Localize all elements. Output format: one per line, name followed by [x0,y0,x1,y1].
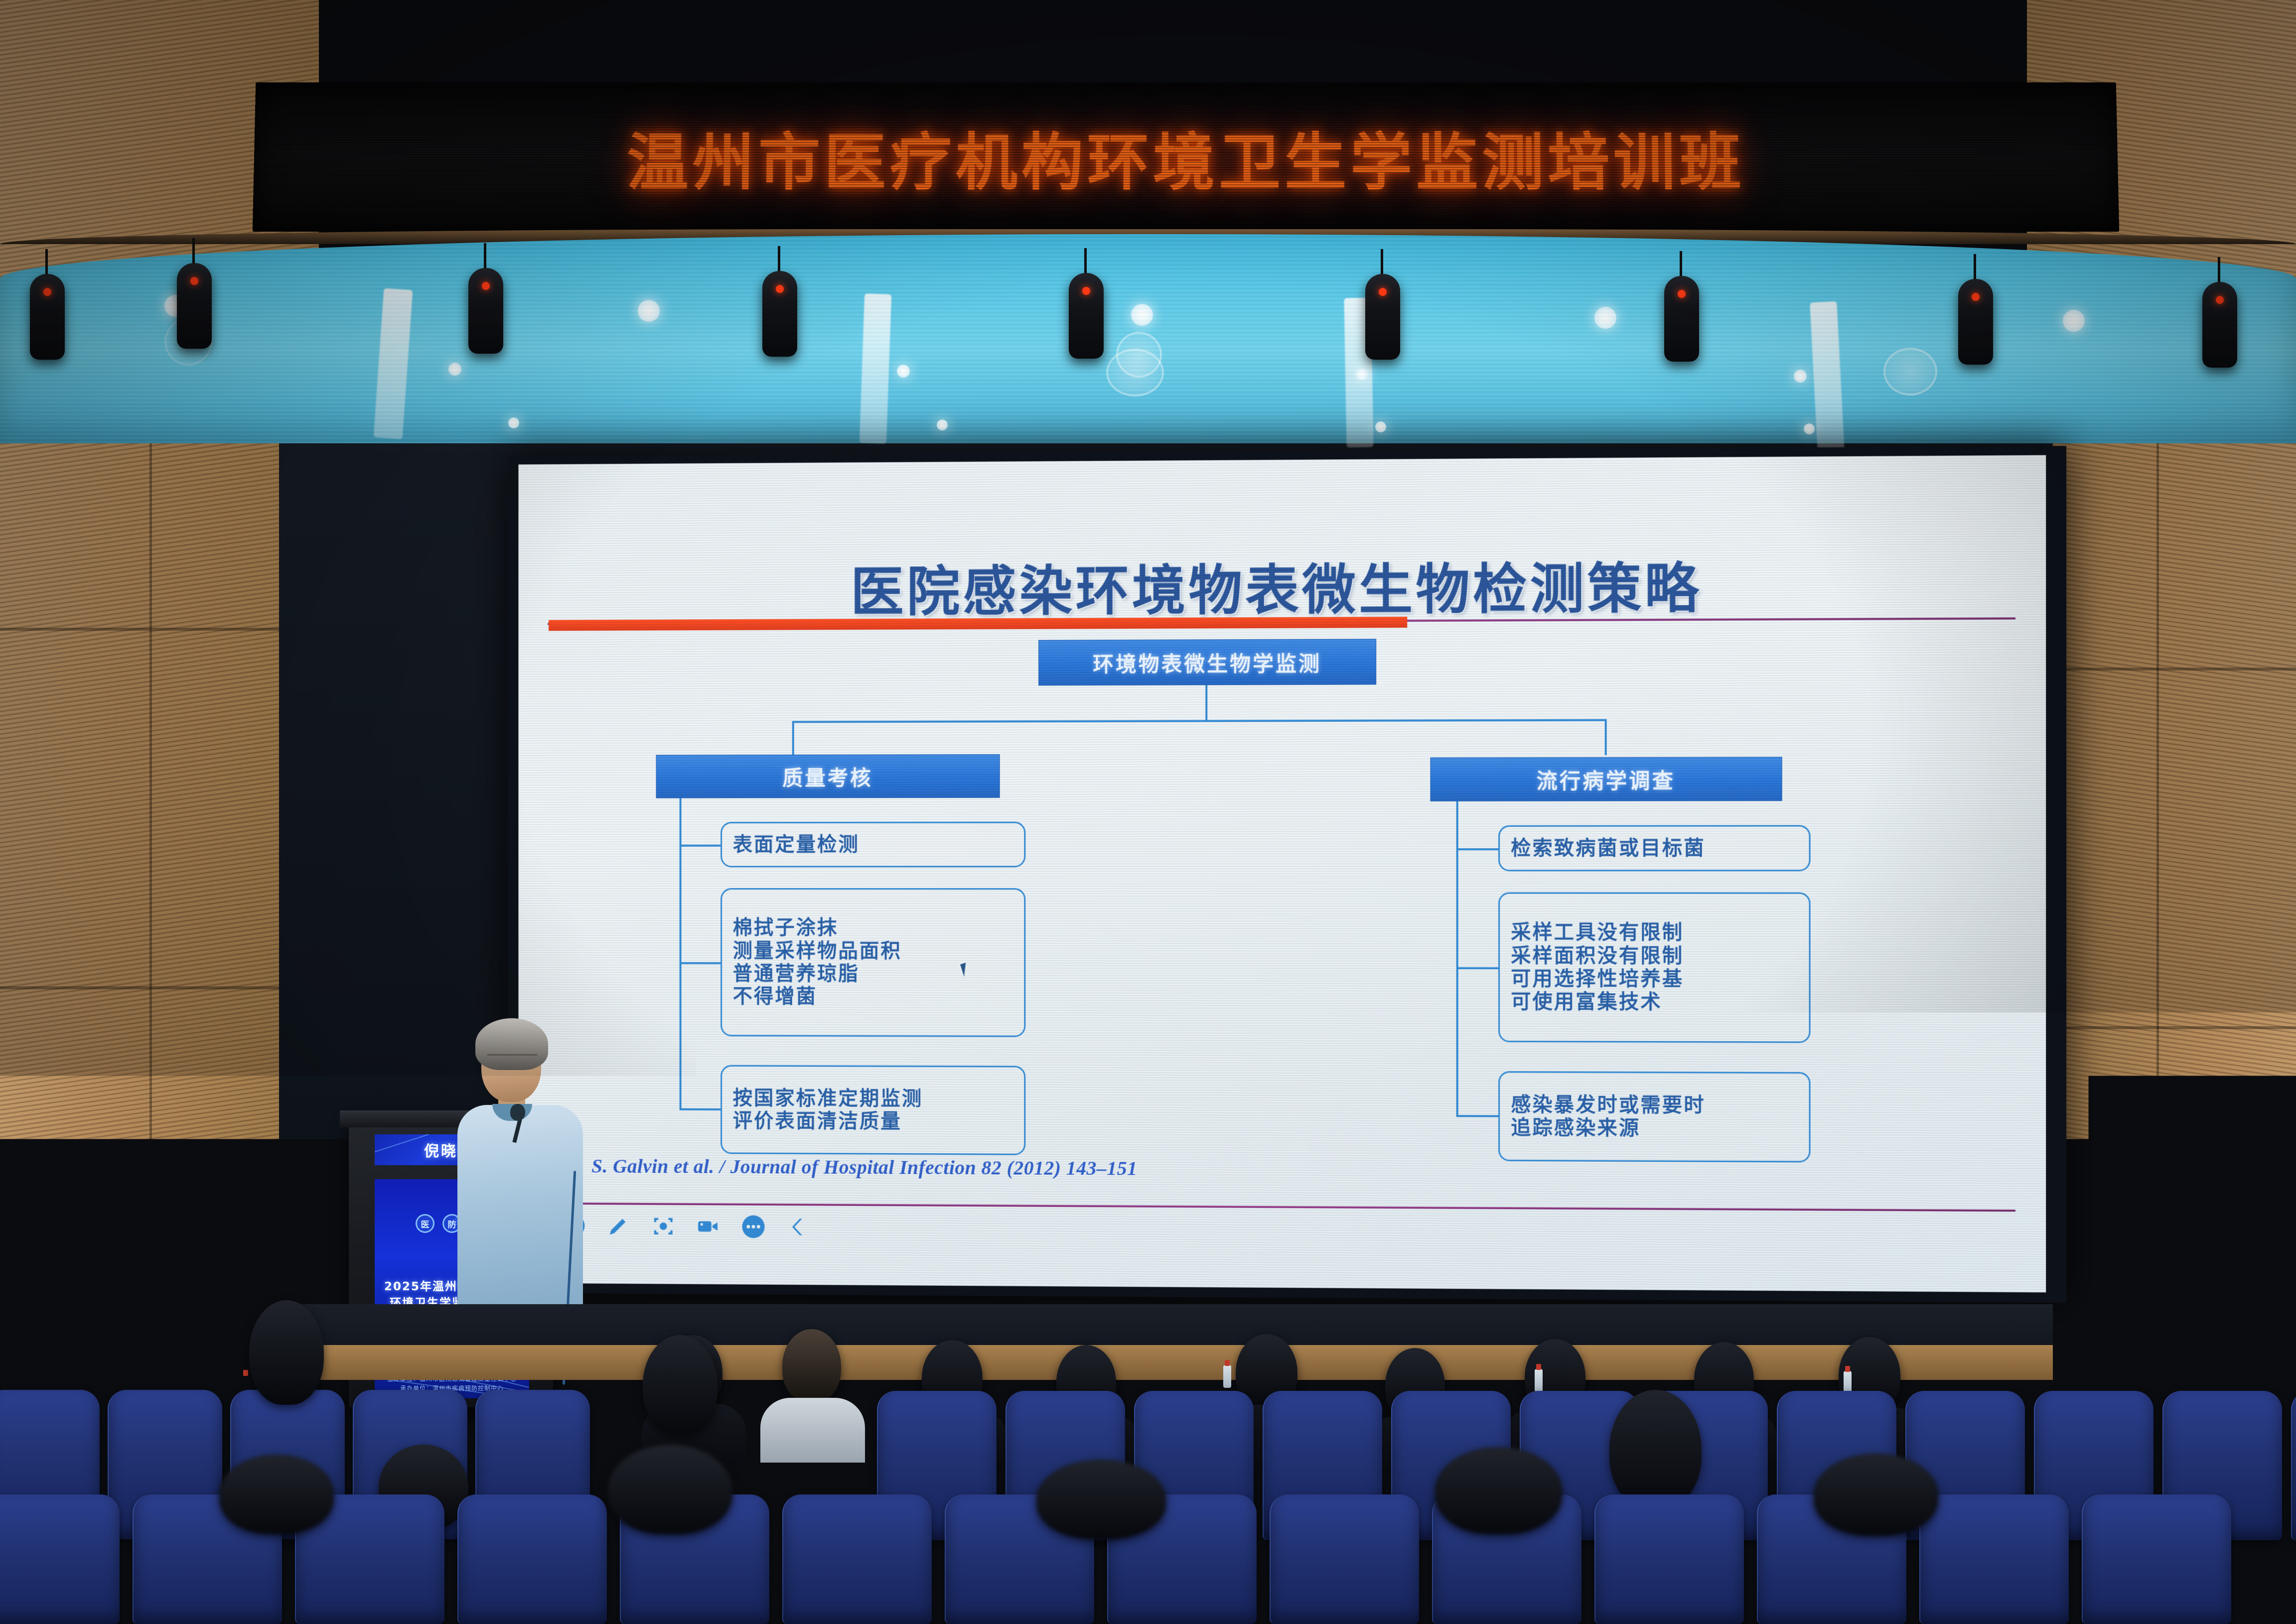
connector-right-stub-2 [1456,967,1499,969]
diagram-branch-quality: 质量考核 [656,754,1000,798]
chevron-left-icon[interactable] [786,1215,811,1239]
led-banner: 温州市医疗机构环境卫生学监测培训班 [253,82,2120,232]
diagram-root-node: 环境物表微生物学监测 [1038,639,1376,685]
connector-right-drop [1605,719,1607,755]
diagram-leaf-surface-quantitative: 表面定量检测 [720,821,1025,867]
diagram-leaf-national-standard: 按国家标准定期监测 评价表面清洁质量 [720,1065,1025,1155]
slide-title: 医院感染环境物表微生物检测策略 [519,543,2046,628]
ceiling-soffit [0,234,2296,443]
auditorium-seat[interactable] [2291,1391,2296,1540]
stage-front-shadow-band [279,1304,2053,1347]
connector-right-stub-1 [1456,848,1499,850]
presentation-slide: 医院感染环境物表微生物检测策略 环境物表微生物学监测 质量考核 流行病学调查 [519,455,2046,1293]
projection-screen-frame: 医院感染环境物表微生物检测策略 环境物表微生物学监测 质量考核 流行病学调查 [508,446,2066,1303]
connector-right-stub-3 [1456,1115,1499,1117]
diagram-leaf-pathogen-search: 检索致病菌或目标菌 [1498,825,1810,871]
speaker-hair [475,1018,548,1070]
laser-focus-icon[interactable] [651,1214,676,1239]
diagram-leaf-swab-method: 棉拭子涂抹 测量采样物品面积 普通营养琼脂 不得增菌 [720,888,1025,1037]
slide-citation: S. Galvin et al. / Journal of Hospital I… [591,1154,1137,1180]
led-banner-text: 温州市医疗机构环境卫生学监测培训班 [253,112,2119,202]
more-ellipsis-icon[interactable] [741,1215,765,1239]
projection-screen[interactable]: 医院感染环境物表微生物检测策略 环境物表微生物学监测 质量考核 流行病学调查 [519,455,2046,1293]
auditorium-seat[interactable] [782,1494,932,1624]
speaker-person [448,1006,613,1325]
conference-hall-scene: 温州市医疗机构环境卫生学监测培训班 [0,0,2296,1530]
diagram-leaf-outbreak-tracing: 感染暴发时或需要时 追踪感染来源 [1498,1071,1810,1162]
connector-root-stem [1205,685,1207,722]
front-desk [279,1345,2053,1380]
video-camera-icon[interactable] [696,1214,720,1239]
diagram-branch-epidemiology: 流行病学调查 [1430,757,1782,801]
diagram-leaf-sampling-freedom: 采样工具没有限制 采样面积没有限制 可用选择性培养基 可使用富集技术 [1498,892,1810,1043]
auditorium-seat[interactable] [1594,1494,1744,1624]
connector-left-stub-3 [680,1108,721,1110]
connector-left-stub-1 [680,844,721,846]
connector-level2-bus [792,719,1607,723]
slide-rule-bottom [548,1203,2015,1212]
auditorium-seat[interactable] [1919,1494,2069,1624]
microphone-icon [510,1104,525,1121]
speaker-torso [457,1105,583,1319]
badge-icon: 医 [416,1214,434,1233]
connector-left-stub-2 [680,962,721,964]
auditorium-seat[interactable] [1270,1494,1419,1624]
auditorium-seat[interactable] [0,1494,120,1624]
auditorium-seat[interactable] [457,1494,607,1624]
connector-left-drop [792,721,794,756]
auditorium-seat[interactable] [2082,1494,2231,1624]
speaker-glasses [487,1054,537,1062]
